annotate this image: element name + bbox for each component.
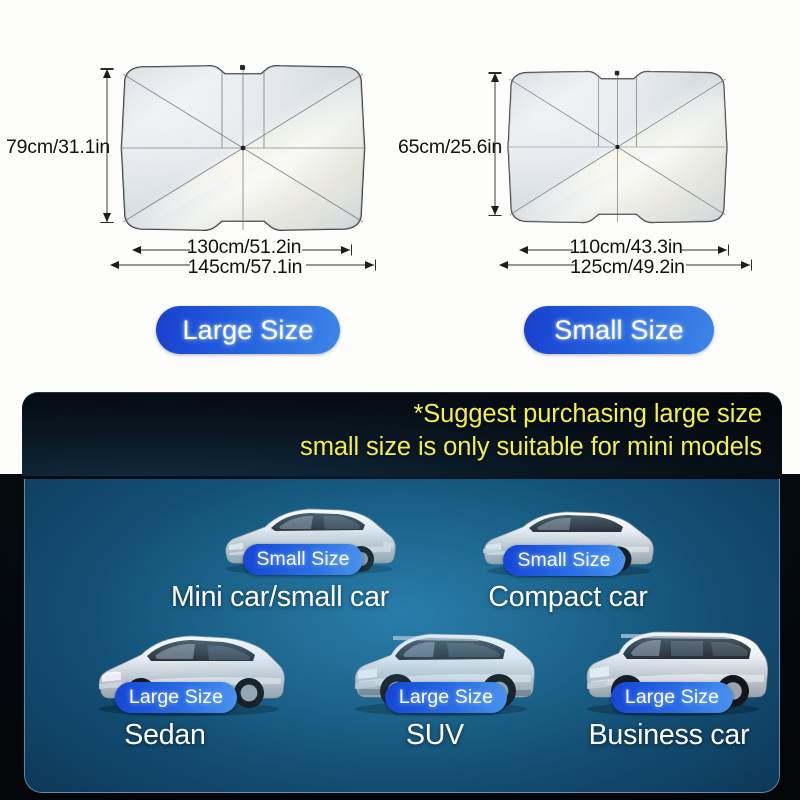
sunshade-umbrella-small-icon [505, 68, 730, 226]
mini-badge-label: Small Size [517, 549, 610, 572]
mini-badge-label: Large Size [129, 686, 223, 709]
small-size-badge[interactable]: Small Size [524, 306, 714, 354]
mini-badge-small-2[interactable]: Small Size [503, 545, 625, 576]
vehicle-card-suv[interactable]: Large Size SUV [329, 627, 541, 762]
large-size-badge-label: Large Size [182, 315, 313, 346]
mini-badge-large-3[interactable]: Large Size [611, 682, 733, 713]
size-comparison-section: 79cm/31.1in 130cm/51.2in 145cm/57.1in [0, 0, 800, 380]
large-outer-width-label: 145cm/57.1in [106, 256, 384, 279]
vehicle-label-sedan: Sedan [59, 719, 271, 752]
vehicle-card-mini[interactable]: Small Size Mini car/small car [135, 497, 425, 622]
vehicle-card-business[interactable]: Large Size Business car [563, 627, 775, 762]
purchase-suggestion-note: *Suggest purchasing large size small siz… [22, 392, 782, 476]
small-height-label: 65cm/25.6in [398, 136, 502, 159]
large-size-panel: 79cm/31.1in 130cm/51.2in 145cm/57.1in [0, 0, 400, 380]
large-height-label: 79cm/31.1in [6, 136, 110, 159]
small-size-panel: 65cm/25.6in 110cm/43.3in 125cm/49.2in Sm… [400, 0, 800, 380]
product-infographic: 79cm/31.1in 130cm/51.2in 145cm/57.1in [0, 0, 800, 800]
mini-badge-large-2[interactable]: Large Size [385, 682, 507, 713]
vehicle-label-business: Business car [563, 719, 775, 752]
note-text-block: *Suggest purchasing large size small siz… [300, 398, 762, 464]
mini-badge-label: Small Size [256, 548, 349, 571]
mini-badge-label: Large Size [625, 686, 719, 709]
note-line-1: *Suggest purchasing large size [300, 398, 762, 431]
vehicle-label-suv: SUV [329, 719, 541, 752]
small-size-badge-label: Small Size [554, 315, 684, 346]
vehicle-label-mini: Mini car/small car [135, 581, 425, 614]
sunshade-umbrella-large-icon [118, 62, 368, 234]
mini-badge-large-1[interactable]: Large Size [115, 682, 237, 713]
vehicle-label-compact: Compact car [443, 581, 693, 614]
note-line-2: small size is only suitable for mini mod… [300, 431, 762, 464]
mini-badge-small-1[interactable]: Small Size [243, 544, 363, 575]
large-size-badge[interactable]: Large Size [156, 306, 340, 354]
vehicle-card-compact[interactable]: Small Size Compact car [443, 497, 693, 622]
vehicle-card-sedan[interactable]: Large Size Sedan [59, 627, 271, 762]
vehicle-compatibility-panel: Small Size Mini car/small car [24, 479, 780, 793]
small-outer-width-label: 125cm/49.2in [495, 256, 760, 279]
mini-badge-label: Large Size [399, 686, 493, 709]
